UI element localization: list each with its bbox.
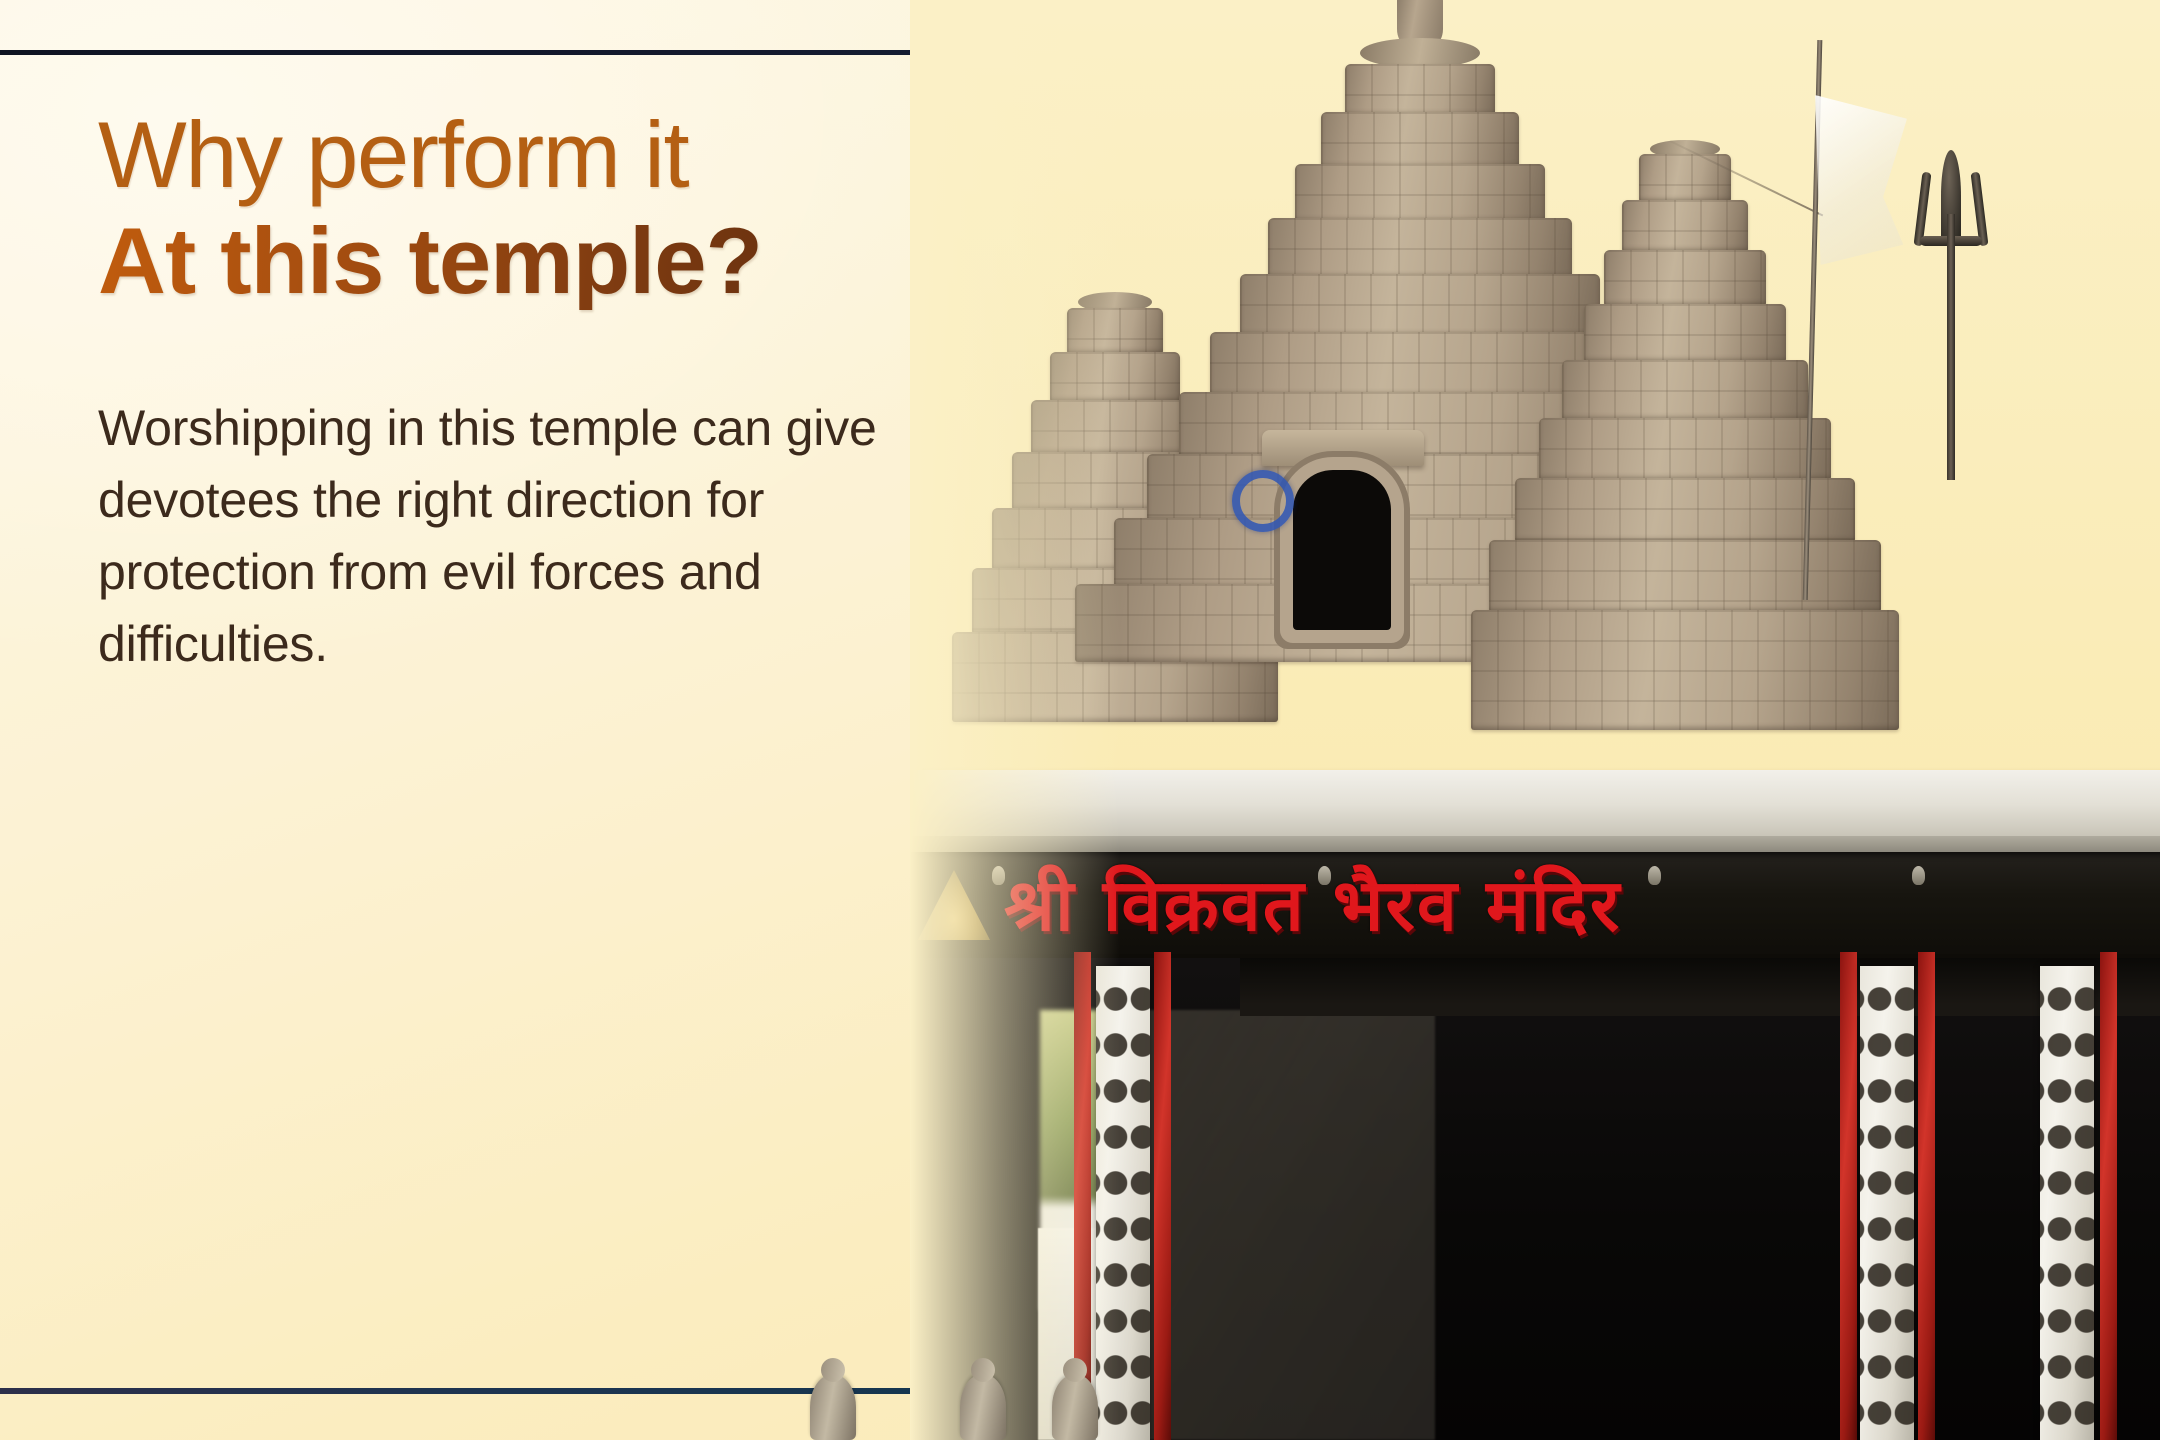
entrance-lintel [1240, 958, 2160, 1016]
parapet-lip [910, 836, 2160, 852]
temple-photo: श्री विक्रवत भैरव मंदिर [910, 0, 2160, 1440]
railing-finial [960, 1374, 1006, 1440]
entrance-pillar [1860, 966, 1914, 1440]
red-post [1840, 952, 1857, 1440]
niche-canopy [1262, 430, 1424, 466]
red-post [1154, 952, 1171, 1440]
interior-back-wall [1135, 1010, 1435, 1440]
parapet-slab [910, 770, 2160, 836]
red-post [1918, 952, 1935, 1440]
temple-signboard: श्री विक्रवत भैरव मंदिर [910, 852, 2160, 958]
blue-ring-detail [1232, 470, 1294, 532]
entrance-pillar [1096, 966, 1150, 1440]
slide-canvas: श्री विक्रवत भैरव मंदिर [0, 0, 2160, 1440]
sign-emblem-icon [918, 870, 990, 940]
shrine-niche-opening [1293, 470, 1391, 630]
temple-sign-text: श्री विक्रवत भैरव मंदिर [1004, 858, 2084, 952]
red-post [2100, 952, 2117, 1440]
text-block: Why perform it At this temple? Worshippi… [98, 105, 998, 680]
body-paragraph: Worshipping in this temple can give devo… [98, 392, 978, 680]
railing-finial [1052, 1374, 1098, 1440]
headline-line-2: At this temple? [98, 211, 998, 311]
railing-finial [810, 1374, 856, 1440]
entrance-pillar [2040, 966, 2094, 1440]
trishul-icon [1912, 150, 1990, 480]
headline-line-1: Why perform it [98, 105, 998, 205]
